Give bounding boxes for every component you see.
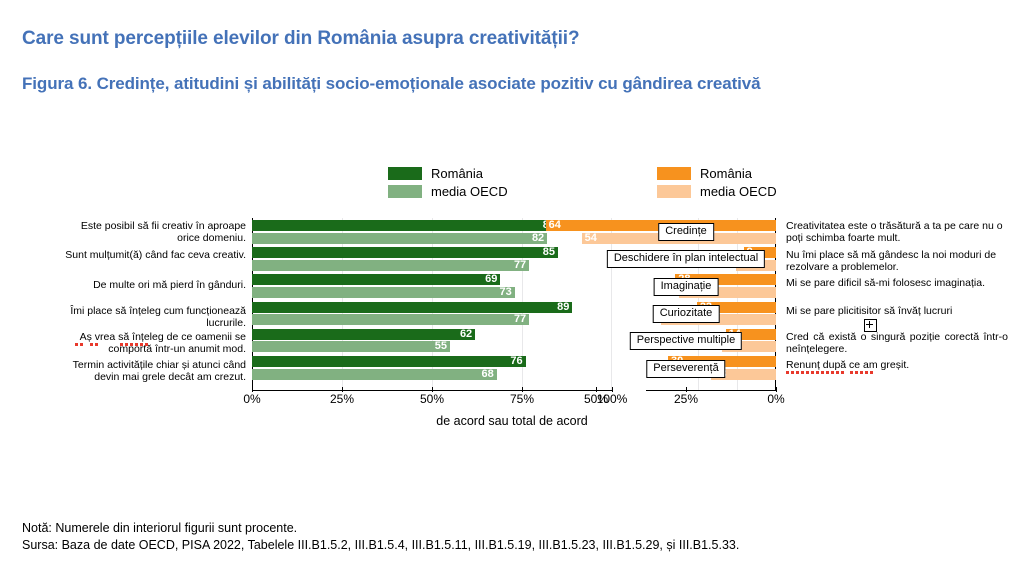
right-category-label: Renunț după ce am greșit. bbox=[786, 360, 1008, 372]
right-category-label: Mi se pare plicitisitor să învăț lucruri bbox=[786, 306, 1008, 318]
bar-value-label: 77 bbox=[514, 260, 526, 271]
bar-value-label: 76 bbox=[510, 356, 522, 367]
x-tick-label-right: 0% bbox=[767, 392, 784, 406]
legend-label-romania-green: România bbox=[431, 166, 483, 181]
bar-value-label: 69 bbox=[485, 274, 497, 285]
category-box-3: Imaginație bbox=[654, 278, 719, 296]
bar-value-label: 54 bbox=[585, 233, 597, 244]
bar-value-label: 89 bbox=[557, 302, 569, 313]
category-box-1: Credințe bbox=[658, 223, 714, 241]
spellcheck-underline bbox=[120, 343, 150, 346]
category-box-4: Curiozitate bbox=[653, 305, 720, 323]
bar-value-label: 68 bbox=[482, 369, 494, 380]
right-category-label: Nu îmi place să mă gândesc la noi moduri… bbox=[786, 250, 1008, 273]
footer-source: Sursa: Baza de date OECD, PISA 2022, Tab… bbox=[22, 537, 1002, 554]
category-box-5: Perspective multiple bbox=[630, 332, 742, 350]
right-category-label: Cred că există o singură poziție corectă… bbox=[786, 332, 1008, 355]
gridline-100 bbox=[611, 218, 612, 390]
x-tick-label-left: 0% bbox=[243, 392, 260, 406]
left-category-label: Este posibil să fii creativ în aproape o… bbox=[60, 221, 246, 244]
left-category-label: Sunt mulțumit(ă) când fac ceva creativ. bbox=[60, 250, 246, 262]
bar-left-oecd: 68 bbox=[252, 369, 497, 380]
left-category-label: Aș vrea să înțeleg de ce oamenii se comp… bbox=[60, 332, 246, 355]
bar-left-romania: 85 bbox=[252, 247, 558, 258]
category-box-6: Perseverență bbox=[646, 360, 725, 378]
bar-left-oecd: 77 bbox=[252, 260, 529, 271]
legend-item-romania-green: România bbox=[388, 166, 508, 181]
page-title: Care sunt percepțiile elevilor din Român… bbox=[22, 28, 1002, 50]
bar-value-label: 73 bbox=[500, 287, 512, 298]
spellcheck-underline bbox=[75, 343, 84, 346]
x-tick-label-left: 50% bbox=[420, 392, 444, 406]
spellcheck-underline bbox=[90, 343, 98, 346]
category-box-2: Deschidere în plan intelectual bbox=[607, 250, 765, 268]
bar-value-label: 62 bbox=[460, 329, 472, 340]
left-panel-ticks: 0%25%50%75%100% bbox=[252, 392, 612, 408]
footer-note: Notă: Numerele din interiorul figurii su… bbox=[22, 520, 1002, 537]
figure-chart: România media OECD România media OECD Es… bbox=[0, 150, 1024, 450]
spellcheck-underline bbox=[850, 371, 874, 374]
x-tick-label-left: 25% bbox=[330, 392, 354, 406]
bar-left-oecd: 55 bbox=[252, 341, 450, 352]
legend-item-romania-orange: România bbox=[657, 166, 777, 181]
bar-value-label: 55 bbox=[435, 341, 447, 352]
right-panel-ticks: 50%25%0% bbox=[646, 392, 776, 408]
legend-item-oecd-orange: media OECD bbox=[657, 184, 777, 199]
right-category-label: Mi se pare dificil să-mi folosesc imagin… bbox=[786, 278, 1008, 290]
figure-footer: Notă: Numerele din interiorul figurii su… bbox=[22, 520, 1002, 554]
bar-left-romania: 76 bbox=[252, 356, 526, 367]
bar-value-label: 64 bbox=[549, 220, 561, 231]
figure-title: Figura 6. Credințe, atitudini și abilită… bbox=[22, 74, 760, 94]
bar-left-romania: 62 bbox=[252, 329, 475, 340]
legend-label-oecd-orange: media OECD bbox=[700, 184, 777, 199]
x-axis-caption: de acord sau total de acord bbox=[0, 414, 1024, 428]
left-category-label: Îmi place să înțeleg cum funcționează lu… bbox=[60, 306, 246, 329]
x-tick-label-left: 75% bbox=[510, 392, 534, 406]
legend-swatch-romania-green bbox=[388, 167, 422, 180]
legend-item-oecd-green: media OECD bbox=[388, 184, 508, 199]
bar-left-oecd: 82 bbox=[252, 233, 547, 244]
spellcheck-underline bbox=[786, 371, 844, 374]
bar-left-romania: 69 bbox=[252, 274, 500, 285]
bar-left-romania: 85 bbox=[252, 220, 558, 231]
right-category-label: Creativitatea este o trăsătură a ta pe c… bbox=[786, 221, 1008, 244]
x-tick-label-right: 25% bbox=[674, 392, 698, 406]
legend-left: România media OECD bbox=[388, 166, 508, 202]
legend-right: România media OECD bbox=[657, 166, 777, 202]
legend-swatch-oecd-green bbox=[388, 185, 422, 198]
plot-panel-left: 858285776973897762557668 0%25%50%75%100% bbox=[252, 218, 612, 390]
left-category-label: Termin activitățile chiar și atunci când… bbox=[60, 360, 246, 383]
bar-left-oecd: 77 bbox=[252, 314, 529, 325]
bar-left-oecd: 73 bbox=[252, 287, 515, 298]
bar-value-label: 85 bbox=[543, 247, 555, 258]
legend-swatch-oecd-orange bbox=[657, 185, 691, 198]
bar-value-label: 82 bbox=[532, 233, 544, 244]
legend-swatch-romania-orange bbox=[657, 167, 691, 180]
heading-block: Care sunt percepțiile elevilor din Român… bbox=[22, 28, 1002, 50]
right-panel-x-axis bbox=[646, 390, 776, 391]
cursor-crosshair-icon bbox=[864, 319, 877, 332]
legend-label-oecd-green: media OECD bbox=[431, 184, 508, 199]
x-tick-label-right: 50% bbox=[584, 392, 608, 406]
legend-label-romania-orange: România bbox=[700, 166, 752, 181]
bar-left-romania: 89 bbox=[252, 302, 572, 313]
left-category-label: De multe ori mă pierd în gânduri. bbox=[60, 280, 246, 292]
bar-value-label: 77 bbox=[514, 314, 526, 325]
